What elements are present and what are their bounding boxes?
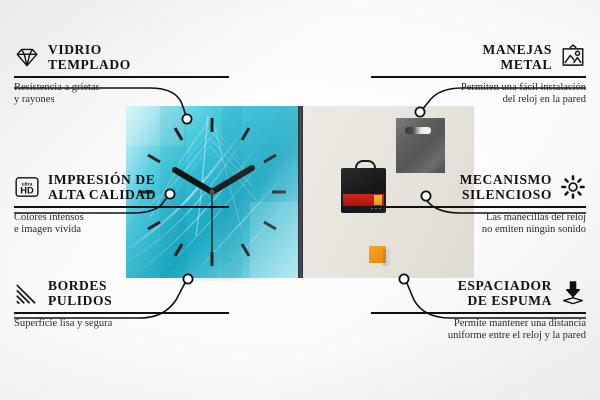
callout-rule	[371, 312, 586, 314]
callout-mecanismo-silencioso: MECANISMO SILENCIOSO Las manecillas del …	[371, 172, 586, 237]
callout-rule	[371, 206, 586, 208]
title-line-2: PULIDOS	[48, 293, 112, 308]
callout-title: ESPACIADOR DE ESPUMA	[458, 278, 552, 308]
title-line-1: BORDES	[48, 278, 112, 293]
callout-title: BORDES PULIDOS	[48, 278, 112, 308]
callout-rule	[371, 76, 586, 78]
callout-vidrio-templado: VIDRIO TEMPLADO Resistencia a grietas y …	[14, 42, 229, 107]
callout-espaciador-espuma: ESPACIADOR DE ESPUMA Permite mantener un…	[371, 278, 586, 343]
callout-impresion-alta-calidad: ultra HD IMPRESIÓN DE ALTA CALIDAD Color…	[14, 172, 229, 237]
callout-description: Superficie lisa y segura	[14, 318, 229, 331]
callout-description: Las manecillas del reloj no emiten ningú…	[371, 212, 586, 237]
metal-hanger-plate	[396, 118, 445, 173]
title-line-1: ESPACIADOR	[458, 278, 552, 293]
callout-title: IMPRESIÓN DE ALTA CALIDAD	[48, 172, 156, 202]
title-line-2: METAL	[500, 57, 552, 72]
title-line-1: MANEJAS	[483, 42, 552, 57]
polished-edges-icon	[14, 280, 40, 306]
ultra-hd-icon: ultra HD	[14, 174, 40, 200]
infographic-canvas: VIDRIO TEMPLADO Resistencia a grietas y …	[0, 0, 600, 400]
title-line-2: SILENCIOSO	[462, 187, 552, 202]
callout-title: MECANISMO SILENCIOSO	[460, 172, 552, 202]
callout-description: Colores intensos e imagen vívida	[14, 212, 229, 237]
ultra-hd-large-text: HD	[20, 186, 34, 196]
callout-title: MANEJAS METAL	[483, 42, 552, 72]
callout-description: Permite mantener una distancia uniforme …	[371, 318, 586, 343]
callout-description: Permiten una fácil instalación del reloj…	[371, 82, 586, 107]
foam-spacer-square	[369, 246, 386, 263]
callout-rule	[14, 312, 229, 314]
callout-manejas-metal: MANEJAS METAL Permiten una fácil instala…	[371, 42, 586, 107]
foam-spacer-icon	[560, 280, 586, 306]
title-line-1: IMPRESIÓN DE	[48, 172, 156, 187]
callout-rule	[14, 206, 229, 208]
callout-title: VIDRIO TEMPLADO	[48, 42, 131, 72]
diamond-icon	[14, 44, 40, 70]
gear-icon	[560, 174, 586, 200]
picture-frame-hanger-icon	[560, 44, 586, 70]
title-line-2: TEMPLADO	[48, 57, 131, 72]
title-line-2: DE ESPUMA	[467, 293, 552, 308]
callout-rule	[14, 76, 229, 78]
callout-bordes-pulidos: BORDES PULIDOS Superficie lisa y segura	[14, 278, 229, 330]
title-line-1: MECANISMO	[460, 172, 552, 187]
title-line-2: ALTA CALIDAD	[48, 187, 156, 202]
title-line-1: VIDRIO	[48, 42, 131, 57]
callout-description: Resistencia a grietas y rayones	[14, 82, 229, 107]
